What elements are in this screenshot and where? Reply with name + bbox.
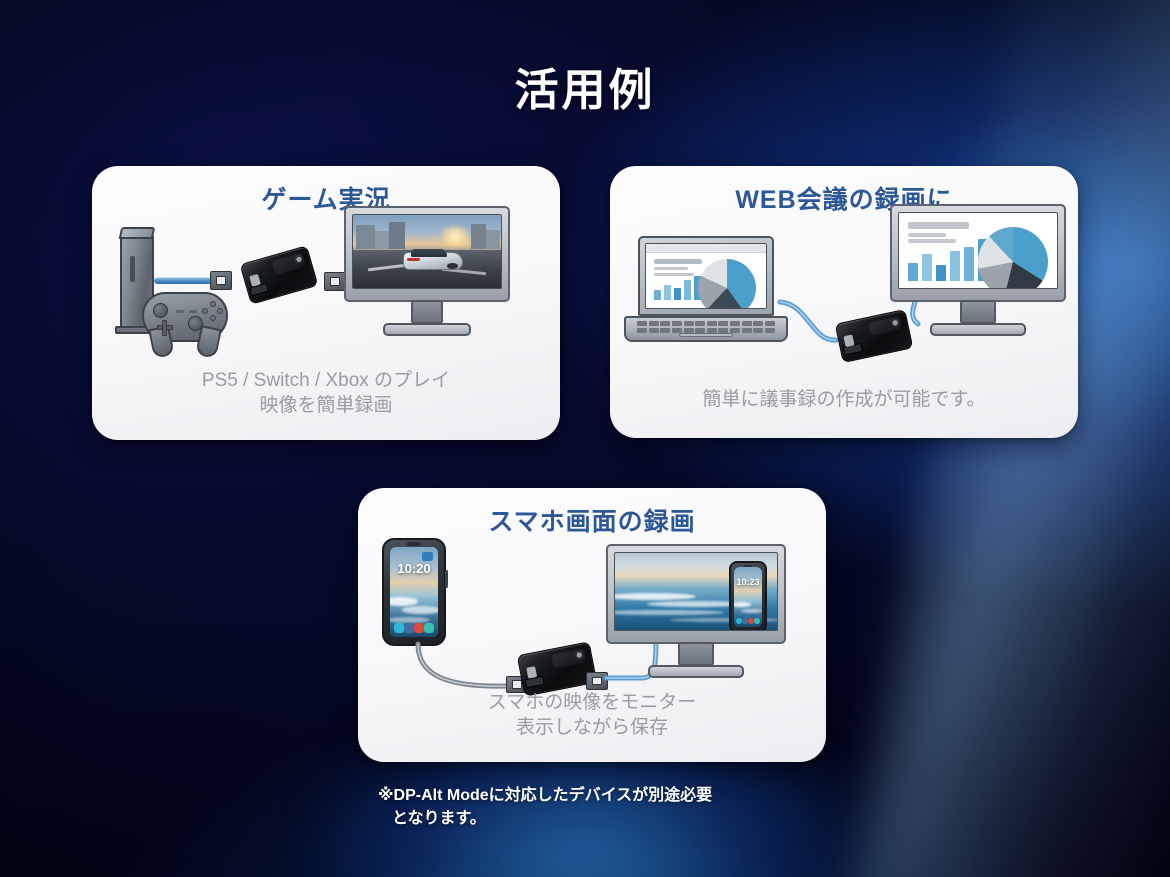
monitor-icon bbox=[890, 204, 1066, 302]
bar-item bbox=[922, 254, 932, 281]
dashboard-text-line-1 bbox=[654, 259, 702, 264]
keyboard-key bbox=[765, 328, 775, 333]
bar-item bbox=[936, 265, 946, 281]
monitor-screen-dashboard bbox=[898, 212, 1058, 289]
bar-item bbox=[908, 263, 918, 280]
console-top-panel bbox=[119, 227, 156, 239]
usecase-card-web-meeting: WEB会議の録画に bbox=[610, 166, 1078, 438]
wave-shape bbox=[402, 606, 438, 613]
phone-status-icon bbox=[422, 552, 433, 561]
racing-sun bbox=[436, 227, 474, 246]
keyboard-key bbox=[695, 321, 705, 326]
laptop-screen-dashboard bbox=[645, 243, 767, 309]
laptop-pie-chart bbox=[698, 259, 756, 309]
caption-line-2: 映像を簡単録画 bbox=[259, 395, 392, 416]
monitor-screen-racing bbox=[352, 214, 502, 289]
capture-device-icon bbox=[240, 245, 319, 305]
phone-screen: 10:20 bbox=[390, 547, 438, 637]
monitor-icon bbox=[344, 206, 510, 302]
scene-smartphone-recording: 10:20 bbox=[358, 532, 826, 692]
gamepad-start-button bbox=[189, 310, 197, 313]
card-caption-web-meeting: 簡単に議事録の作成が可能です。 bbox=[610, 387, 1078, 412]
scene-web-meeting bbox=[610, 216, 1078, 366]
wave-shape bbox=[614, 593, 696, 600]
monitor-bar-chart bbox=[908, 237, 988, 281]
hdmi-plug-slot-right bbox=[592, 677, 603, 686]
mirrored-phone-dock bbox=[736, 618, 760, 624]
bar-item bbox=[684, 280, 691, 300]
smartphone-icon: 10:20 bbox=[382, 538, 446, 646]
racing-car-cabin bbox=[411, 249, 446, 257]
caption-line-1: スマホの映像をモニター bbox=[488, 692, 696, 713]
racing-building-2 bbox=[375, 231, 388, 249]
racing-building-5 bbox=[486, 230, 499, 249]
dock-app-icon bbox=[414, 623, 424, 633]
keyboard-key bbox=[660, 321, 670, 326]
monitor-base bbox=[648, 665, 744, 678]
monitor-icon: 10:23 bbox=[606, 544, 786, 644]
gamepad-button-left bbox=[202, 308, 208, 314]
gamepad-button-right bbox=[217, 308, 223, 314]
keyboard-key bbox=[672, 321, 682, 326]
monitor-base bbox=[930, 323, 1026, 336]
hdmi-cable-console bbox=[154, 277, 212, 284]
dock-app-icon bbox=[404, 623, 414, 633]
dock-app-icon bbox=[754, 618, 760, 624]
monitor-neck bbox=[960, 300, 996, 324]
usecase-card-game-streaming: ゲーム実況 bbox=[92, 166, 560, 440]
footnote-line-1: ※DP-Alt Modeに対応したデバイスが別途必要 bbox=[378, 787, 712, 804]
bar-item bbox=[964, 247, 974, 281]
caption-line-1: PS5 / Switch / Xbox のプレイ bbox=[202, 370, 450, 391]
gamepad-button-top bbox=[210, 301, 216, 307]
capture-device-logo-icon bbox=[526, 666, 537, 679]
keyboard-key bbox=[695, 328, 705, 333]
keyboard-key bbox=[649, 321, 659, 326]
usb-plug-slot bbox=[512, 680, 523, 688]
monitor-neck bbox=[678, 642, 714, 666]
hdmi-plug-slot bbox=[216, 276, 227, 285]
console-slot bbox=[130, 256, 135, 282]
dock-app-icon bbox=[748, 618, 754, 624]
mirrored-phone-clock: 10:23 bbox=[734, 577, 762, 587]
card-caption-smartphone-recording: スマホの映像をモニター 表示しながら保存 bbox=[358, 690, 826, 740]
laptop-bar-chart bbox=[654, 272, 701, 300]
usecase-card-smartphone-recording: スマホ画面の録画 10:20 bbox=[358, 488, 826, 762]
keyboard-key bbox=[730, 328, 740, 333]
gamepad-stick-right bbox=[188, 316, 203, 331]
keyboard-key bbox=[742, 321, 752, 326]
keyboard-key bbox=[718, 321, 728, 326]
keyboard-key bbox=[707, 321, 717, 326]
racing-building-4 bbox=[471, 224, 486, 249]
monitor-dashboard bbox=[899, 213, 1057, 288]
caption-line-1: 簡単に議事録の作成が可能です。 bbox=[702, 389, 985, 410]
phone-clock: 10:20 bbox=[390, 561, 438, 576]
scene-game-streaming bbox=[92, 216, 560, 366]
racing-car-taillight bbox=[407, 258, 421, 261]
gamepad-grip-right bbox=[195, 325, 222, 359]
keyboard-key bbox=[684, 321, 694, 326]
keyboard-key bbox=[637, 328, 647, 333]
dashboard-text-line-1 bbox=[908, 222, 968, 229]
racing-car-wheel bbox=[447, 263, 458, 269]
mirrored-phone-screen: 10:23 bbox=[734, 567, 762, 627]
dock-app-icon bbox=[424, 623, 434, 633]
dashboard-text-line-2 bbox=[654, 267, 688, 270]
keyboard-key bbox=[765, 321, 775, 326]
keyboard-key bbox=[742, 328, 752, 333]
gamepad-dpad-vertical bbox=[162, 320, 167, 336]
gamepad-stick-left bbox=[153, 303, 168, 318]
monitor-base bbox=[383, 323, 471, 336]
keyboard-key bbox=[637, 321, 647, 326]
keyboard-key bbox=[707, 328, 717, 333]
laptop-dashboard bbox=[646, 244, 766, 308]
dashboard-header-bar bbox=[646, 244, 766, 253]
keyboard-key bbox=[649, 328, 659, 333]
bar-item bbox=[950, 251, 960, 281]
hdmi-plug-left-icon bbox=[210, 271, 232, 290]
keyboard-key bbox=[753, 328, 763, 333]
racing-building-1 bbox=[356, 225, 375, 248]
gamepad-button-bottom bbox=[210, 315, 216, 321]
monitor-screen-ocean: 10:23 bbox=[614, 552, 778, 631]
monitor-neck bbox=[411, 300, 443, 324]
keyboard-key bbox=[672, 328, 682, 333]
laptop-keyboard bbox=[637, 321, 775, 332]
keyboard-key bbox=[730, 321, 740, 326]
keyboard-key bbox=[753, 321, 763, 326]
racing-building-3 bbox=[389, 222, 405, 248]
phone-notch bbox=[407, 542, 421, 546]
mirrored-phone-overlay-icon: 10:23 bbox=[729, 561, 767, 631]
caption-line-2: 表示しながら保存 bbox=[516, 717, 668, 738]
page-title: 活用例 bbox=[0, 54, 1170, 118]
dock-app-icon bbox=[394, 623, 404, 633]
racing-car bbox=[403, 252, 462, 271]
card-caption-game-streaming: PS5 / Switch / Xbox のプレイ 映像を簡単録画 bbox=[92, 368, 560, 418]
hdmi-plug-right-icon bbox=[324, 272, 346, 291]
footnote-line-2: となります。 bbox=[378, 807, 898, 830]
keyboard-key bbox=[684, 328, 694, 333]
gamepad-select-button bbox=[176, 310, 184, 313]
hdmi-plug-slot-right bbox=[330, 277, 341, 286]
bar-item bbox=[664, 285, 671, 300]
bar-item bbox=[674, 288, 681, 300]
laptop-icon bbox=[638, 236, 774, 316]
gamepad-icon bbox=[142, 292, 228, 342]
bar-item bbox=[654, 290, 661, 301]
keyboard-key bbox=[718, 328, 728, 333]
dashboard-text-line-2 bbox=[908, 233, 946, 237]
laptop-trackpad bbox=[679, 333, 733, 338]
phone-power-button bbox=[445, 570, 448, 588]
phone-dock bbox=[394, 623, 434, 633]
monitor-pie-chart bbox=[978, 227, 1048, 290]
keyboard-key bbox=[660, 328, 670, 333]
footnote: ※DP-Alt Modeに対応したデバイスが別途必要 となります。 bbox=[378, 784, 898, 830]
laptop-base bbox=[624, 316, 788, 342]
